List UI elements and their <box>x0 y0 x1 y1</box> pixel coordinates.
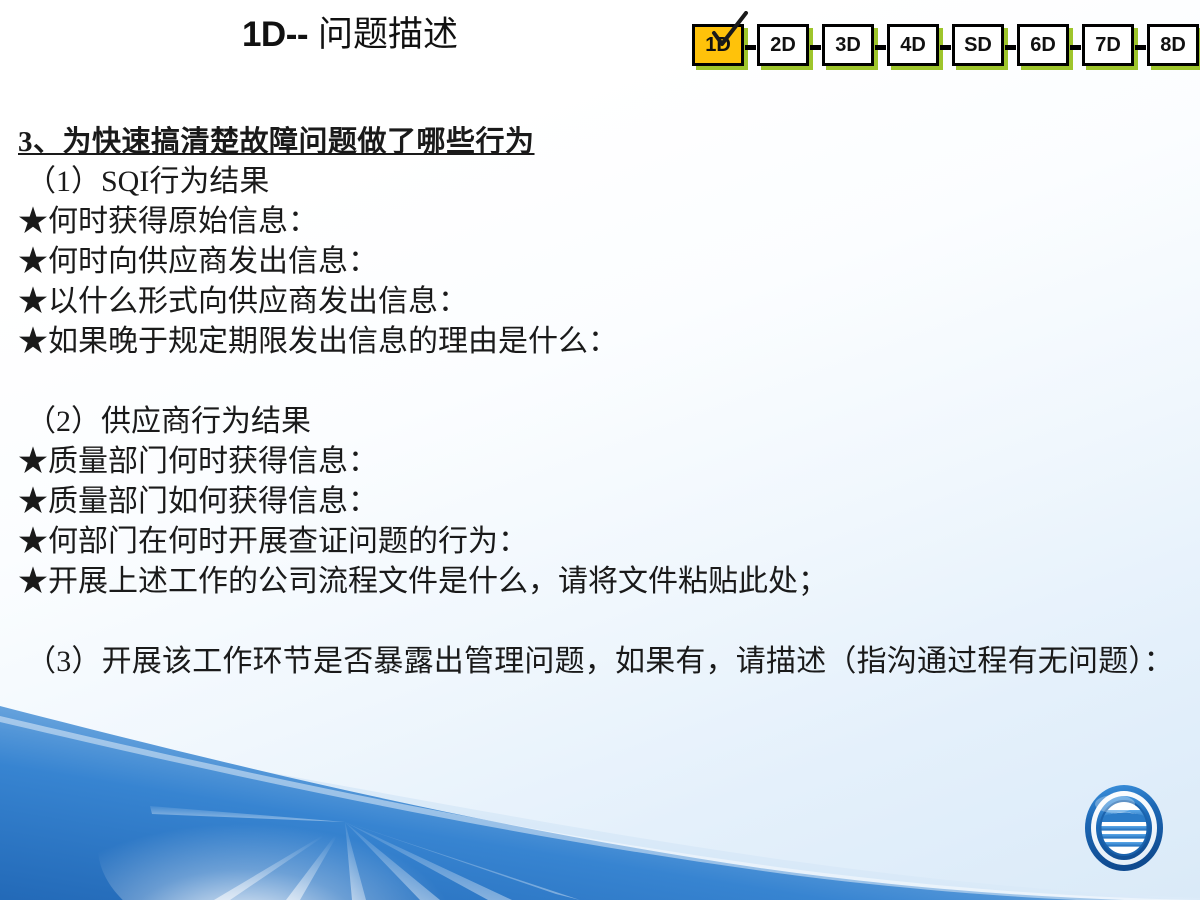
page-title-text: 问题描述 <box>318 15 458 54</box>
step-cell-4: 4D <box>887 24 952 66</box>
step-cell-7: 7D <box>1082 24 1147 66</box>
step-connector-2 <box>810 45 821 50</box>
section-1-item-3: ★以什么形式向供应商发出信息： <box>18 282 1183 322</box>
section-1-label: （1）SQI行为结果 <box>18 162 1183 202</box>
step-box-3d[interactable]: 3D <box>822 24 874 66</box>
step-connector-1 <box>745 45 756 50</box>
section-1-item-2: ★何时向供应商发出信息： <box>18 242 1183 282</box>
section-gap-2 <box>18 602 1183 642</box>
step-cell-8: 8D <box>1147 24 1199 66</box>
step-label-7d: 7D <box>1095 34 1121 57</box>
step-box-2d[interactable]: 2D <box>757 24 809 66</box>
step-cell-3: 3D <box>822 24 887 66</box>
page-title: 1D--问题描述 <box>0 16 700 55</box>
section-2-label: （2）供应商行为结果 <box>18 402 1183 442</box>
step-connector-5 <box>1005 45 1016 50</box>
section-2-item-3: ★何部门在何时开展查证问题的行为： <box>18 522 1183 562</box>
step-cell-6: 6D <box>1017 24 1082 66</box>
section-1-label-text: （1）SQI行为结果 <box>26 165 269 198</box>
step-connector-7 <box>1135 45 1146 50</box>
step-label-sd: SD <box>964 34 992 57</box>
step-box-1d[interactable]: 1D <box>692 24 744 66</box>
section-2-item-1: ★质量部门何时获得信息： <box>18 442 1183 482</box>
step-cell-1: 1D <box>692 24 757 66</box>
step-label-6d: 6D <box>1030 34 1056 57</box>
section-2-item-2: ★质量部门如何获得信息： <box>18 482 1183 522</box>
step-connector-4 <box>940 45 951 50</box>
step-connector-3 <box>875 45 886 50</box>
step-box-4d[interactable]: 4D <box>887 24 939 66</box>
section-2-item-4: ★开展上述工作的公司流程文件是什么，请将文件粘贴此处； <box>18 562 1183 602</box>
step-box-8d[interactable]: 8D <box>1147 24 1199 66</box>
section-1-item-1: ★何时获得原始信息： <box>18 202 1183 242</box>
slide-body: 3、为快速搞清楚故障问题做了哪些行为 （1）SQI行为结果 ★何时获得原始信息：… <box>18 122 1183 682</box>
step-box-sd[interactable]: SD <box>952 24 1004 66</box>
step-label-3d: 3D <box>835 34 861 57</box>
step-connector-6 <box>1070 45 1081 50</box>
step-label-1d: 1D <box>705 34 731 57</box>
section-gap-1 <box>18 362 1183 402</box>
body-heading: 3、为快速搞清楚故障问题做了哪些行为 <box>18 122 1183 162</box>
eight-d-step-strip: 1D 2D 3D 4D <box>692 24 1199 66</box>
step-label-2d: 2D <box>770 34 796 57</box>
section-3-text: （3）开展该工作环节是否暴露出管理问题，如果有，请描述（指沟通过程有无问题）： <box>18 642 1183 682</box>
step-cell-2: 2D <box>757 24 822 66</box>
page-title-step-code: 1D-- <box>242 15 308 54</box>
step-label-8d: 8D <box>1160 34 1186 57</box>
step-box-6d[interactable]: 6D <box>1017 24 1069 66</box>
step-label-4d: 4D <box>900 34 926 57</box>
company-disc-logo <box>1078 780 1170 876</box>
slide-canvas: 1D--问题描述 1D 2D 3D <box>0 0 1200 900</box>
step-cell-5: SD <box>952 24 1017 66</box>
section-1-item-4: ★如果晚于规定期限发出信息的理由是什么： <box>18 322 1183 362</box>
step-box-7d[interactable]: 7D <box>1082 24 1134 66</box>
